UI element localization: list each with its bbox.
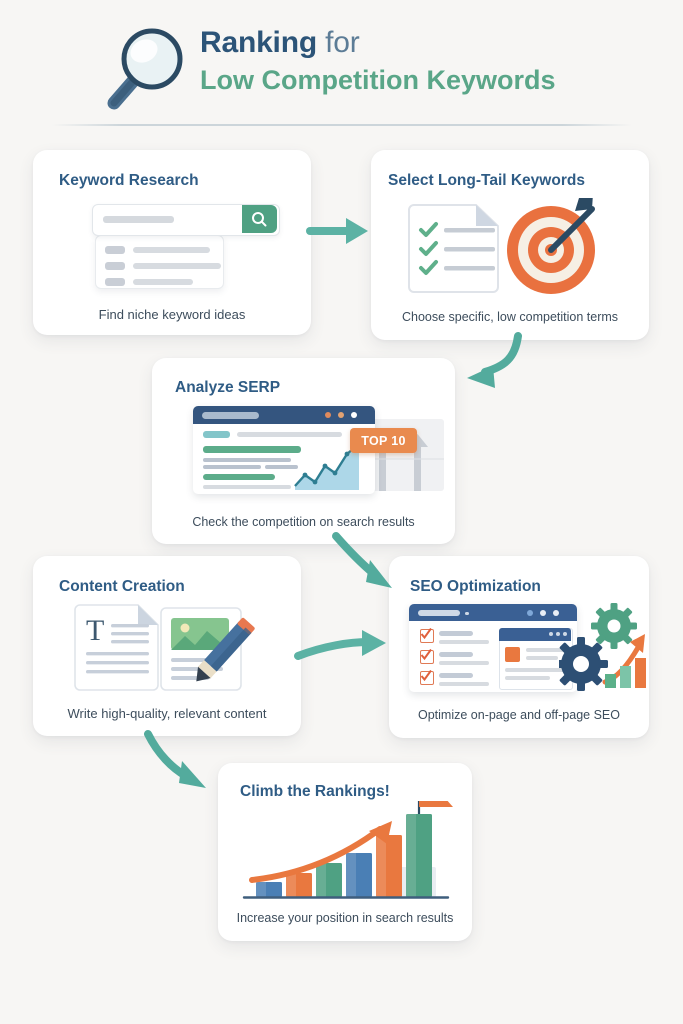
arrow-longtail-to-serp	[455, 330, 535, 390]
card-title: SEO Optimization	[410, 578, 541, 596]
card-caption: Choose specific, low competition terms	[371, 310, 649, 324]
arrow-content-to-seo	[296, 630, 396, 675]
card-title: Content Creation	[59, 578, 185, 596]
step-card-seo-optimization[interactable]: SEO Optimization	[389, 556, 649, 738]
header-divider	[52, 124, 632, 126]
arrow-research-to-longtail	[306, 212, 376, 252]
card-title: Select Long-Tail Keywords	[388, 172, 585, 190]
card-caption: Find niche keyword ideas	[33, 307, 311, 322]
title-subline: Low Competition Keywords	[200, 62, 670, 98]
growth-bar-chart-flag-icon	[218, 801, 472, 911]
search-icon	[251, 211, 268, 228]
search-box-icon	[33, 200, 311, 295]
arrow-serp-to-seo	[330, 530, 420, 600]
magnifying-glass-icon	[104, 24, 194, 112]
card-caption: Optimize on-page and off-page SEO	[389, 708, 649, 722]
step-card-select-long-tail-keywords[interactable]: Select Long-Tail Keywords	[371, 150, 649, 340]
checklist-target-icon	[371, 198, 649, 298]
card-caption: Check the competition on search results	[152, 515, 455, 529]
card-caption: Write high-quality, relevant content	[33, 706, 301, 721]
step-card-content-creation[interactable]: Content Creation T	[33, 556, 301, 736]
card-title: Climb the Rankings!	[240, 783, 390, 801]
header: Ranking for Low Competition Keywords	[0, 0, 683, 130]
page-title: Ranking for Low Competition Keywords	[200, 24, 670, 98]
browser-gears-icon	[389, 600, 649, 696]
card-caption: Increase your position in search results	[218, 911, 472, 925]
document-pencil-icon: T	[33, 602, 301, 694]
status-badge: TOP 10	[350, 428, 417, 453]
step-card-keyword-research[interactable]: Keyword Research Find niche keyword idea…	[33, 150, 311, 335]
title-rest: for	[317, 26, 360, 59]
step-card-climb-the-rankings[interactable]: Climb the Rankings!	[218, 763, 472, 941]
title-emphasis: Ranking	[200, 26, 317, 59]
infographic-root: Ranking for Low Competition Keywords Key…	[0, 0, 683, 1024]
step-card-analyze-serp[interactable]: Analyze SERP	[152, 358, 455, 544]
arrow-content-to-climb	[142, 726, 232, 796]
svg-text:T: T	[86, 614, 104, 647]
card-title: Keyword Research	[59, 172, 199, 190]
browser-chart-icon: TOP 10	[152, 403, 455, 499]
card-title: Analyze SERP	[175, 379, 280, 397]
